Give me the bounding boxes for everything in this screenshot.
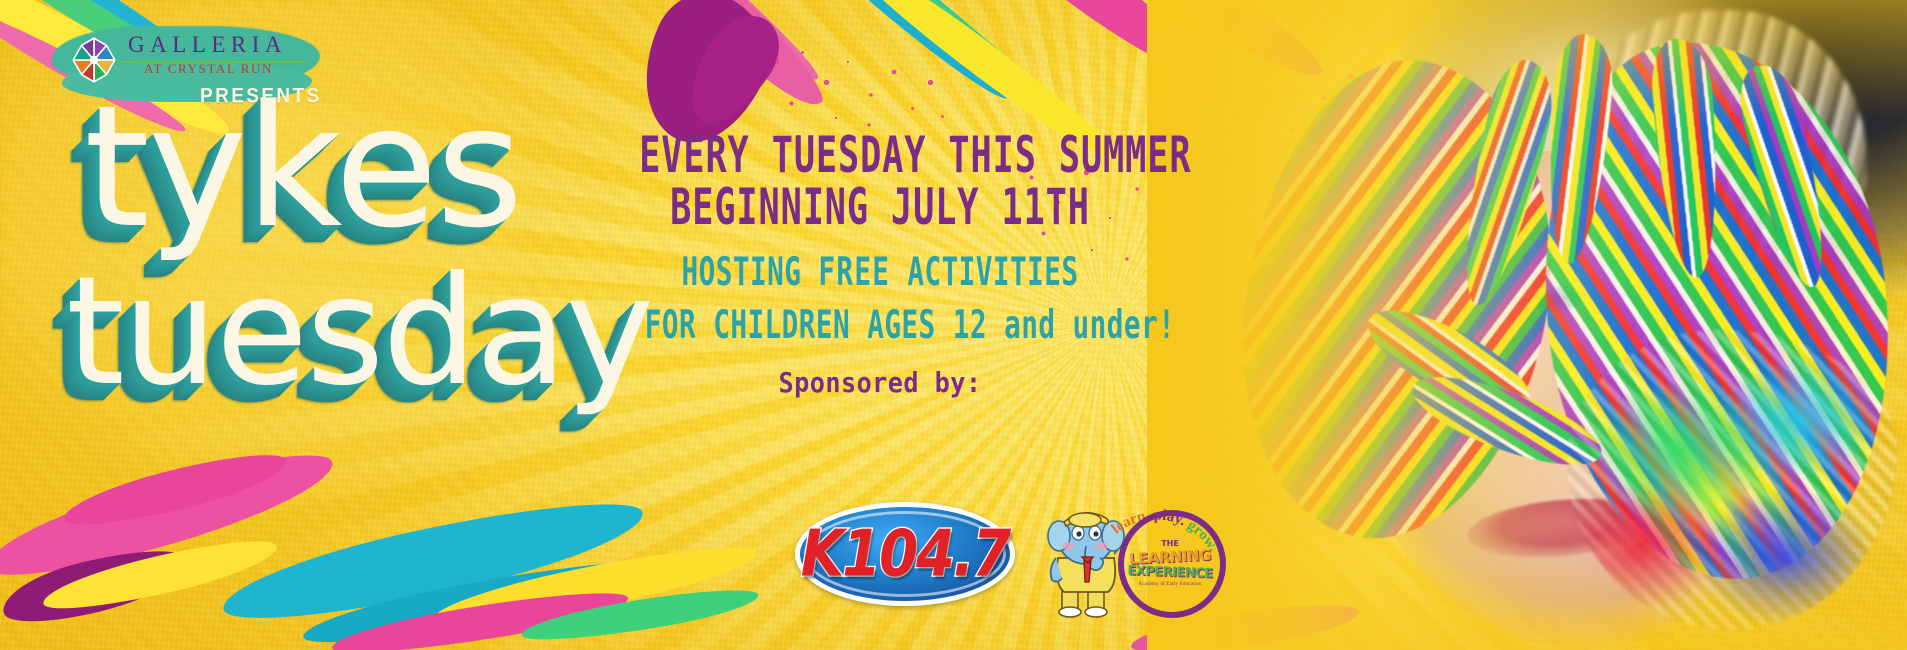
event-logotype: tykes tuesday <box>66 90 586 401</box>
learning-experience-wordmark: THE LEARNING EXPERIENCE Academy of Early… <box>1126 534 1214 587</box>
age-prefix: FOR CHILDREN AGES 12 <box>645 301 1004 348</box>
subheadline-line-1: HOSTING FREE ACTIVITIES <box>645 248 1115 295</box>
photo-top-fade <box>1147 0 1907 120</box>
age-suffix: and under! <box>1004 301 1175 348</box>
logotype-line-2: tuesday <box>66 263 586 401</box>
sponsor-logos: K104.7 <box>640 492 1280 622</box>
subheadline-line-2: FOR CHILDREN AGES 12 and under! <box>645 301 1115 348</box>
tle-experience: EXPERIENCE <box>1126 564 1214 580</box>
headline-line-1: EVERY TUESDAY THIS SUMMER <box>639 128 1121 184</box>
subheadline-suffix: ACTIVITIES <box>890 248 1078 295</box>
sponsor-logo-learning-experience[interactable]: learn. play. grow. THE LEARNING EXPERIEN… <box>1040 492 1270 620</box>
logotype-line-1: tykes <box>84 90 586 245</box>
free-emphasis: FREE <box>818 248 890 295</box>
tle-sub-tagline: Academy of Early Education <box>1126 582 1214 587</box>
event-details: EVERY TUESDAY THIS SUMMER BEGINNING JULY… <box>600 128 1160 399</box>
headline-line-2: BEGINNING JULY 11TH <box>639 180 1121 236</box>
sponsor-logo-k1047[interactable]: K104.7 <box>795 502 1015 606</box>
promotional-banner: GALLERIA AT CRYSTAL RUN PRESENTS tykes t… <box>0 0 1907 650</box>
k1047-wordmark: K104.7 <box>795 495 1015 614</box>
sponsored-by-label: Sponsored by: <box>628 366 1132 399</box>
brand-name: GALLERIA <box>128 32 287 58</box>
subheadline-prefix: HOSTING <box>682 248 819 295</box>
